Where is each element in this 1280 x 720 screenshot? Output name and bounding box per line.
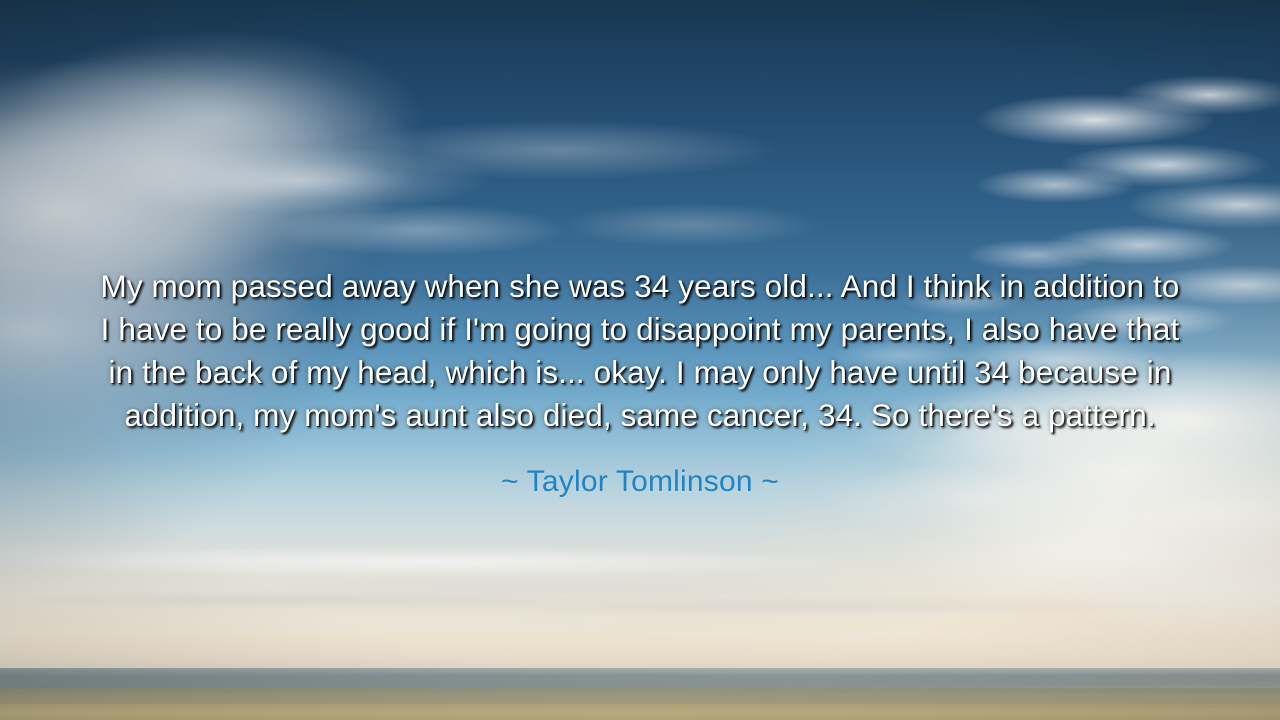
quote-author-attribution: ~ Taylor Tomlinson ~ xyxy=(501,463,779,501)
quote-text: My mom passed away when she was 34 years… xyxy=(97,265,1183,437)
quote-card: My mom passed away when she was 34 years… xyxy=(0,0,1280,720)
quote-content-block: My mom passed away when she was 34 years… xyxy=(0,0,1280,720)
